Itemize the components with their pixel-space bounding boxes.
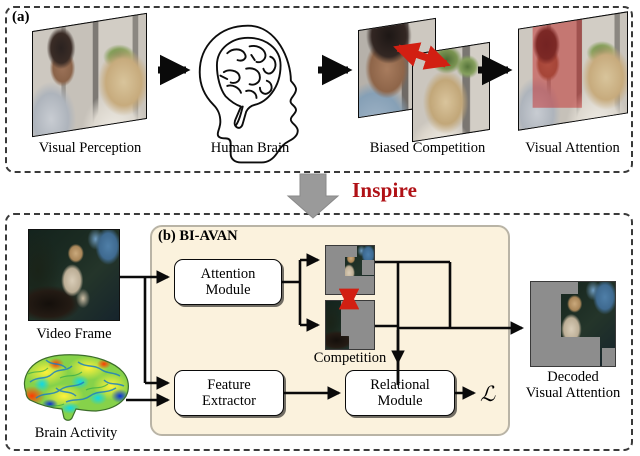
attention-module-box[interactable]: Attention Module: [174, 259, 282, 305]
feature-extractor-line2: Extractor: [202, 393, 256, 409]
visual-perception-label: Visual Perception: [20, 140, 160, 156]
decoded-output-line2: Visual Attention: [512, 386, 634, 402]
visual-perception-photo: [32, 13, 147, 137]
attention-module-line1: Attention: [201, 266, 256, 282]
relational-module-line2: Module: [377, 393, 422, 409]
relational-module-box[interactable]: Relational Module: [345, 370, 455, 416]
decoded-output-label: Decoded Visual Attention: [512, 370, 634, 402]
wedding-scene-image: [32, 13, 147, 137]
competition-tile-background: [325, 300, 375, 350]
competition-label: Competition: [296, 350, 404, 366]
attention-module-line2: Module: [205, 282, 250, 298]
biased-competition-photo-bride: [412, 42, 490, 142]
visual-attention-photo: [518, 11, 628, 130]
figure-root: (a) Visual Perception Human Br: [0, 0, 640, 456]
bride-crop-image: [412, 42, 490, 142]
brain-activity-heatmap: [16, 352, 134, 422]
competition-tile-foreground: [325, 245, 375, 295]
feature-extractor-box[interactable]: Feature Extractor: [174, 370, 284, 416]
attention-highlight-image: [518, 11, 628, 130]
biased-competition-label: Biased Competition: [345, 140, 510, 156]
video-frame-thumbnail: [28, 229, 120, 321]
panel-b-tag: (b): [158, 228, 176, 244]
down-arrow-icon: [288, 174, 338, 218]
bi-avan-name: BI-AVAN: [179, 228, 237, 244]
brain-activity-label: Brain Activity: [14, 425, 138, 441]
video-frame-label: Video Frame: [18, 326, 130, 342]
relational-module-line1: Relational: [370, 377, 430, 393]
loss-symbol: ℒ: [480, 382, 495, 407]
panel-a-tag: (a): [12, 9, 30, 26]
decoded-attention-thumbnail: [530, 281, 616, 367]
decoded-output-line1: Decoded: [512, 370, 634, 386]
inspire-label: Inspire: [352, 178, 417, 203]
feature-extractor-line1: Feature: [207, 377, 250, 393]
human-brain-label: Human Brain: [185, 140, 315, 156]
visual-attention-label: Visual Attention: [505, 140, 640, 156]
bi-avan-title: (b) BI-AVAN: [158, 228, 238, 245]
